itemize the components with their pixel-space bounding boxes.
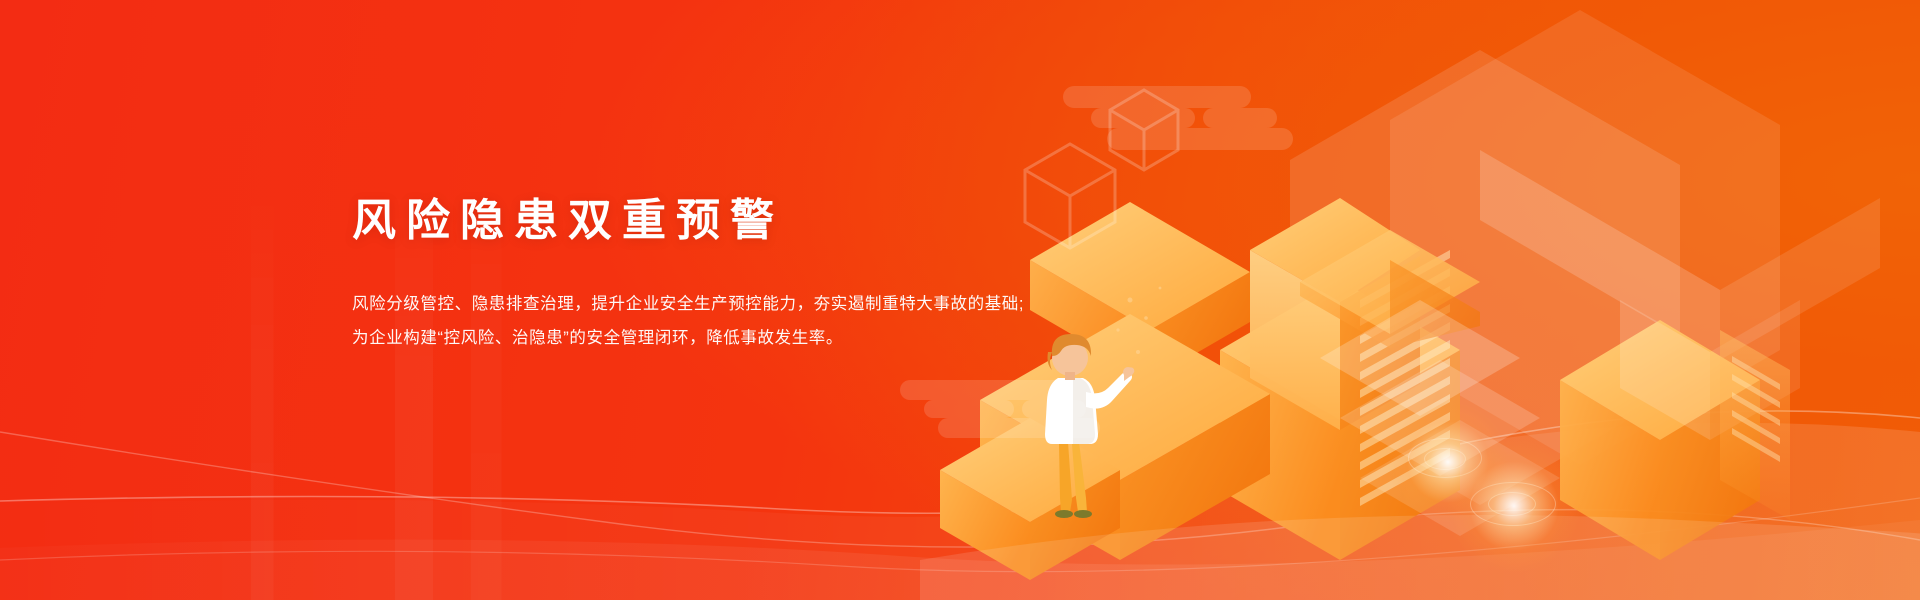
page-title: 风险隐患双重预警 bbox=[352, 196, 1172, 245]
ground-shadow bbox=[920, 515, 1920, 600]
tower-window-slats bbox=[1360, 250, 1450, 506]
glow-ripple-right-inner bbox=[1488, 492, 1536, 516]
subtitle-line-2: 为企业构建“控风险、治隐患”的安全管理闭环，降低事故发生率。 bbox=[352, 321, 1172, 355]
banner-subtitle: 风险分级管控、隐患排查治理，提升企业安全生产预控能力，夯实遏制重特大事故的基础;… bbox=[352, 287, 1172, 355]
glow-point-right bbox=[1448, 440, 1580, 572]
glow-ripple-left-outer bbox=[1408, 438, 1482, 478]
translucent-slab-upper bbox=[1480, 150, 1880, 360]
cloud-motif-bottom bbox=[900, 380, 1100, 438]
isometric-small-box bbox=[940, 418, 1120, 580]
banner-copy: 风险隐患双重预警 风险分级管控、隐患排查治理，提升企业安全生产预控能力，夯实遏制… bbox=[352, 196, 1172, 355]
cloud-motif-top bbox=[1063, 86, 1293, 152]
glow-point-left bbox=[1388, 402, 1508, 522]
glow-ripple-left-inner bbox=[1424, 448, 1466, 470]
ghost-cube-backdrop-2 bbox=[1390, 10, 1780, 465]
glow-ripple-right-outer bbox=[1470, 482, 1556, 526]
hexagon-cube-outline-small bbox=[1110, 90, 1178, 170]
isometric-tower-stack bbox=[1220, 198, 1560, 560]
ghost-cube-backdrop bbox=[1290, 50, 1680, 505]
person-pointing bbox=[1045, 334, 1134, 518]
hero-banner: 风险隐患双重预警 风险分级管控、隐患排查治理，提升企业安全生产预控能力，夯实遏制… bbox=[0, 0, 1920, 600]
floating-plates bbox=[1300, 230, 1560, 536]
subtitle-line-1: 风险分级管控、隐患排查治理，提升企业安全生产预控能力，夯实遏制重特大事故的基础; bbox=[352, 287, 1172, 321]
isometric-cube-cluster-right bbox=[1560, 300, 1800, 560]
